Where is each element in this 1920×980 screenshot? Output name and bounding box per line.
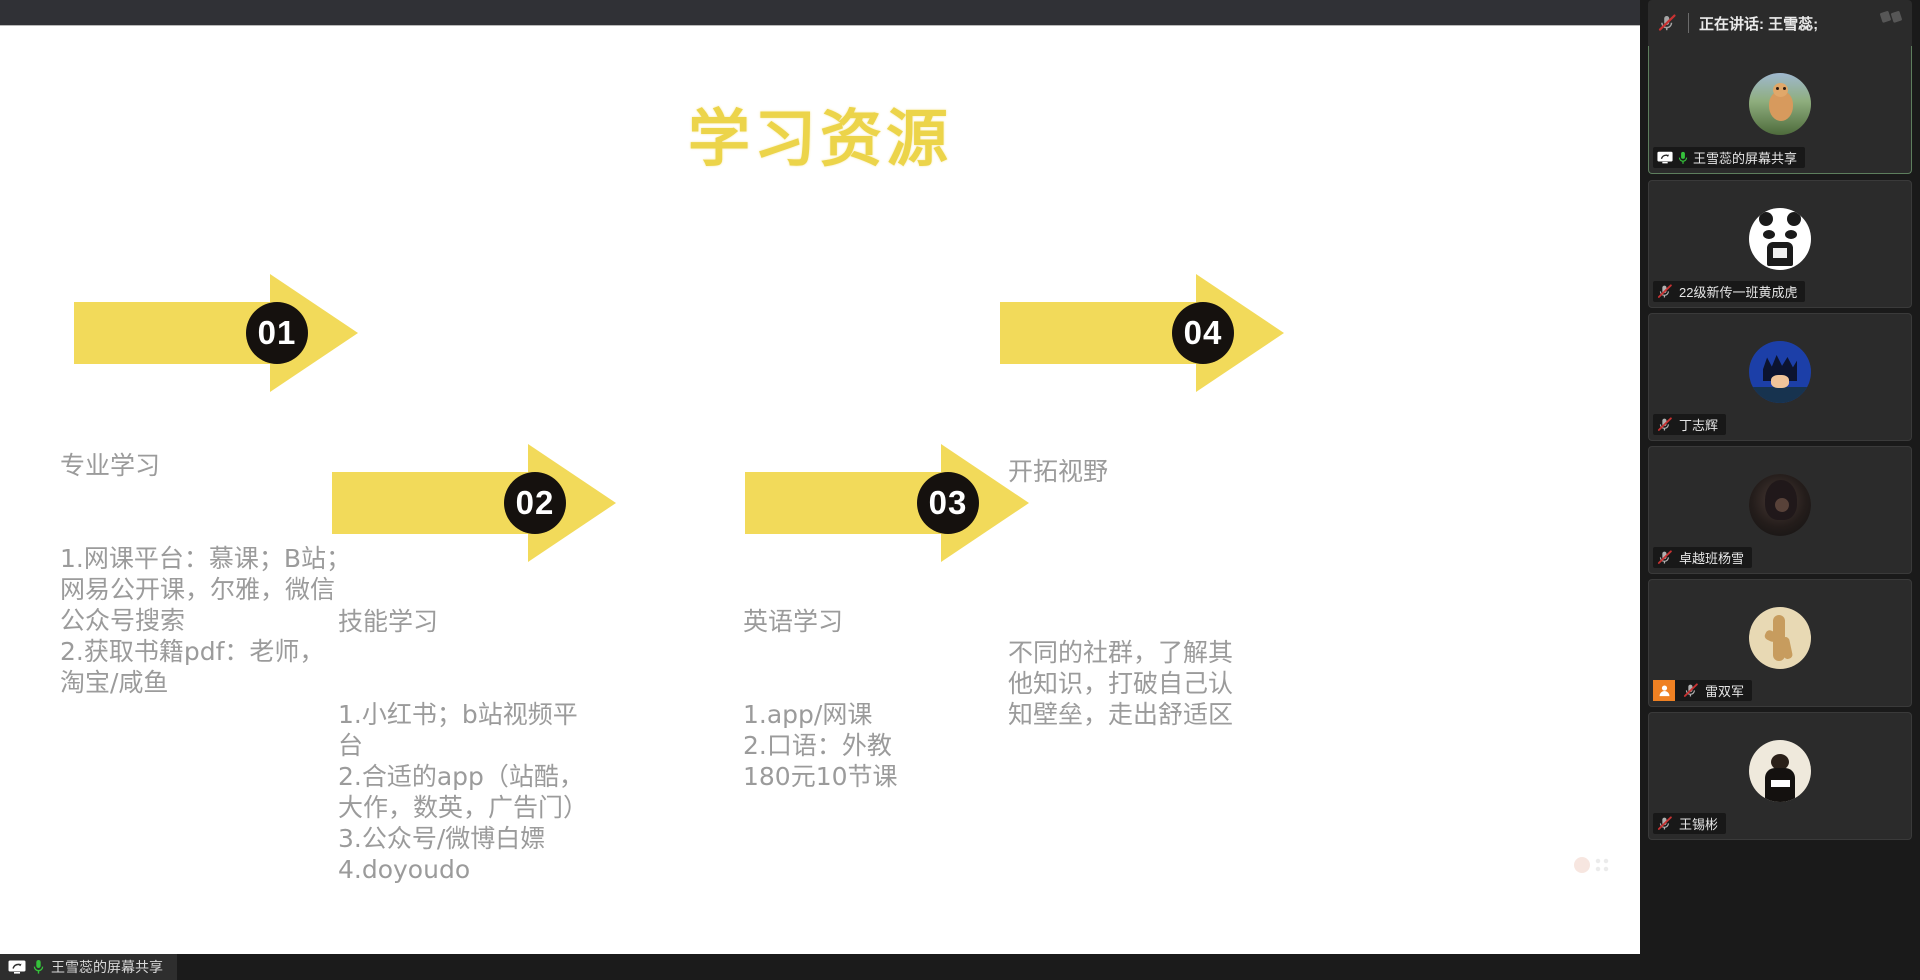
microphone-icon [33, 959, 44, 975]
microphone-muted-icon [1657, 284, 1674, 299]
screen-share-icon [8, 960, 26, 974]
note-spacer [1008, 549, 1268, 575]
participant-namebar: 王锡彬 [1653, 813, 1726, 834]
note-body: 1.小红书；b站视频平 台 2.合适的app（站酷， 大作，数英，广告门） 3.… [338, 699, 608, 885]
microphone-muted-icon [1657, 816, 1674, 831]
microphone-muted-icon [1683, 683, 1700, 698]
note-body: 不同的社群，了解其 他知识，打破自己认 知壁垒，走出舒适区 [1008, 637, 1268, 730]
active-speaker-label: 正在讲话: 王雪蕊; [1699, 13, 1818, 34]
shared-screen-stage[interactable]: 学习资源 01 02 03 0 [0, 26, 1640, 954]
participant-tile[interactable]: 22级新传一班黄成虎 [1648, 180, 1912, 308]
participant-name: 雷双军 [1705, 681, 1744, 700]
arrow-step-01: 01 [74, 274, 404, 392]
arrow-number-badge: 03 [917, 472, 979, 534]
avatar [1749, 607, 1811, 669]
arrow-number-badge: 02 [504, 472, 566, 534]
avatar [1749, 208, 1811, 270]
participant-tile[interactable]: 王雪蕊的屏幕共享 [1648, 46, 1912, 174]
avatar-photo-cream [1749, 740, 1811, 802]
share-status-label: 王雪蕊的屏幕共享 [51, 957, 163, 977]
avatar-anime-blue [1749, 341, 1811, 403]
microphone-icon [1678, 151, 1688, 165]
watermark-icon [1574, 854, 1618, 876]
watermark-dot-icon [1574, 857, 1590, 873]
avatar-panda [1749, 208, 1811, 270]
host-person-icon [1653, 680, 1675, 701]
participants-rail[interactable]: 正在讲话: 王雪蕊; [1640, 0, 1920, 980]
avatar-deer [1749, 73, 1811, 135]
note-heading: 开拓视野 [1008, 456, 1268, 487]
participant-namebar: 王雪蕊的屏幕共享 [1653, 147, 1805, 168]
note-heading: 专业学习 [60, 450, 360, 481]
microphone-muted-icon [1658, 14, 1678, 32]
share-top-strip [0, 0, 1640, 26]
participant-name: 卓越班杨雪 [1679, 548, 1744, 567]
screen-share-icon [1657, 151, 1673, 164]
avatar-photo-tan [1749, 607, 1811, 669]
microphone-muted-icon [1657, 550, 1674, 565]
watermark-grid-icon [1595, 858, 1609, 872]
header-divider [1688, 13, 1689, 33]
active-speaker-header: 正在讲话: 王雪蕊; [1648, 0, 1912, 46]
note-block-02: 技能学习 1.小红书；b站视频平 台 2.合适的app（站酷， 大作，数英，广告… [338, 544, 608, 947]
meeting-window: 学习资源 01 02 03 0 [0, 0, 1920, 980]
arrow-number-badge: 01 [246, 302, 308, 364]
avatar [1749, 474, 1811, 536]
participant-tile[interactable]: 王锡彬 [1648, 712, 1912, 840]
note-heading: 英语学习 [743, 606, 1003, 637]
note-block-04: 开拓视野 不同的社群，了解其 他知识，打破自己认 知壁垒，走出舒适区 [1008, 394, 1268, 792]
arrow-step-04: 04 [1000, 274, 1330, 392]
participant-tile[interactable]: 卓越班杨雪 [1648, 446, 1912, 574]
participant-namebar: 雷双军 [1653, 680, 1752, 701]
presentation-slide: 学习资源 01 02 03 0 [0, 26, 1640, 954]
participant-tile[interactable]: 雷双军 [1648, 579, 1912, 707]
note-block-03: 英语学习 1.app/网课 2.口语：外教 180元10节课 [743, 544, 1003, 854]
note-body: 1.app/网课 2.口语：外教 180元10节课 [743, 699, 1003, 792]
participants-scrollbar[interactable] [1913, 0, 1919, 980]
avatar [1749, 341, 1811, 403]
share-bottom-bar: 王雪蕊的屏幕共享 [0, 954, 1640, 980]
participant-namebar: 卓越班杨雪 [1653, 547, 1752, 568]
participant-name: 王雪蕊的屏幕共享 [1693, 148, 1797, 167]
share-status-pill: 王雪蕊的屏幕共享 [0, 954, 177, 980]
participant-name: 王锡彬 [1679, 814, 1718, 833]
note-block-01: 专业学习 1.网课平台：慕课；B站； 网易公开课，尔雅，微信 公众号搜索 2.获… [60, 388, 360, 760]
note-heading: 技能学习 [338, 606, 608, 637]
participant-tile[interactable]: 丁志辉 [1648, 313, 1912, 441]
note-body: 1.网课平台：慕课；B站； 网易公开课，尔雅，微信 公众号搜索 2.获取书籍pd… [60, 543, 360, 698]
arrow-number-badge: 04 [1172, 302, 1234, 364]
participant-name: 22级新传一班黄成虎 [1679, 282, 1797, 301]
participant-namebar: 丁志辉 [1653, 414, 1726, 435]
participant-name: 丁志辉 [1679, 415, 1718, 434]
avatar [1749, 73, 1811, 135]
participant-namebar: 22级新传一班黄成虎 [1653, 281, 1805, 302]
collapse-panel-icon[interactable] [1878, 6, 1906, 28]
microphone-muted-icon [1657, 417, 1674, 432]
avatar-photo-dark [1749, 474, 1811, 536]
avatar [1749, 740, 1811, 802]
slide-title: 学习资源 [0, 88, 1640, 178]
